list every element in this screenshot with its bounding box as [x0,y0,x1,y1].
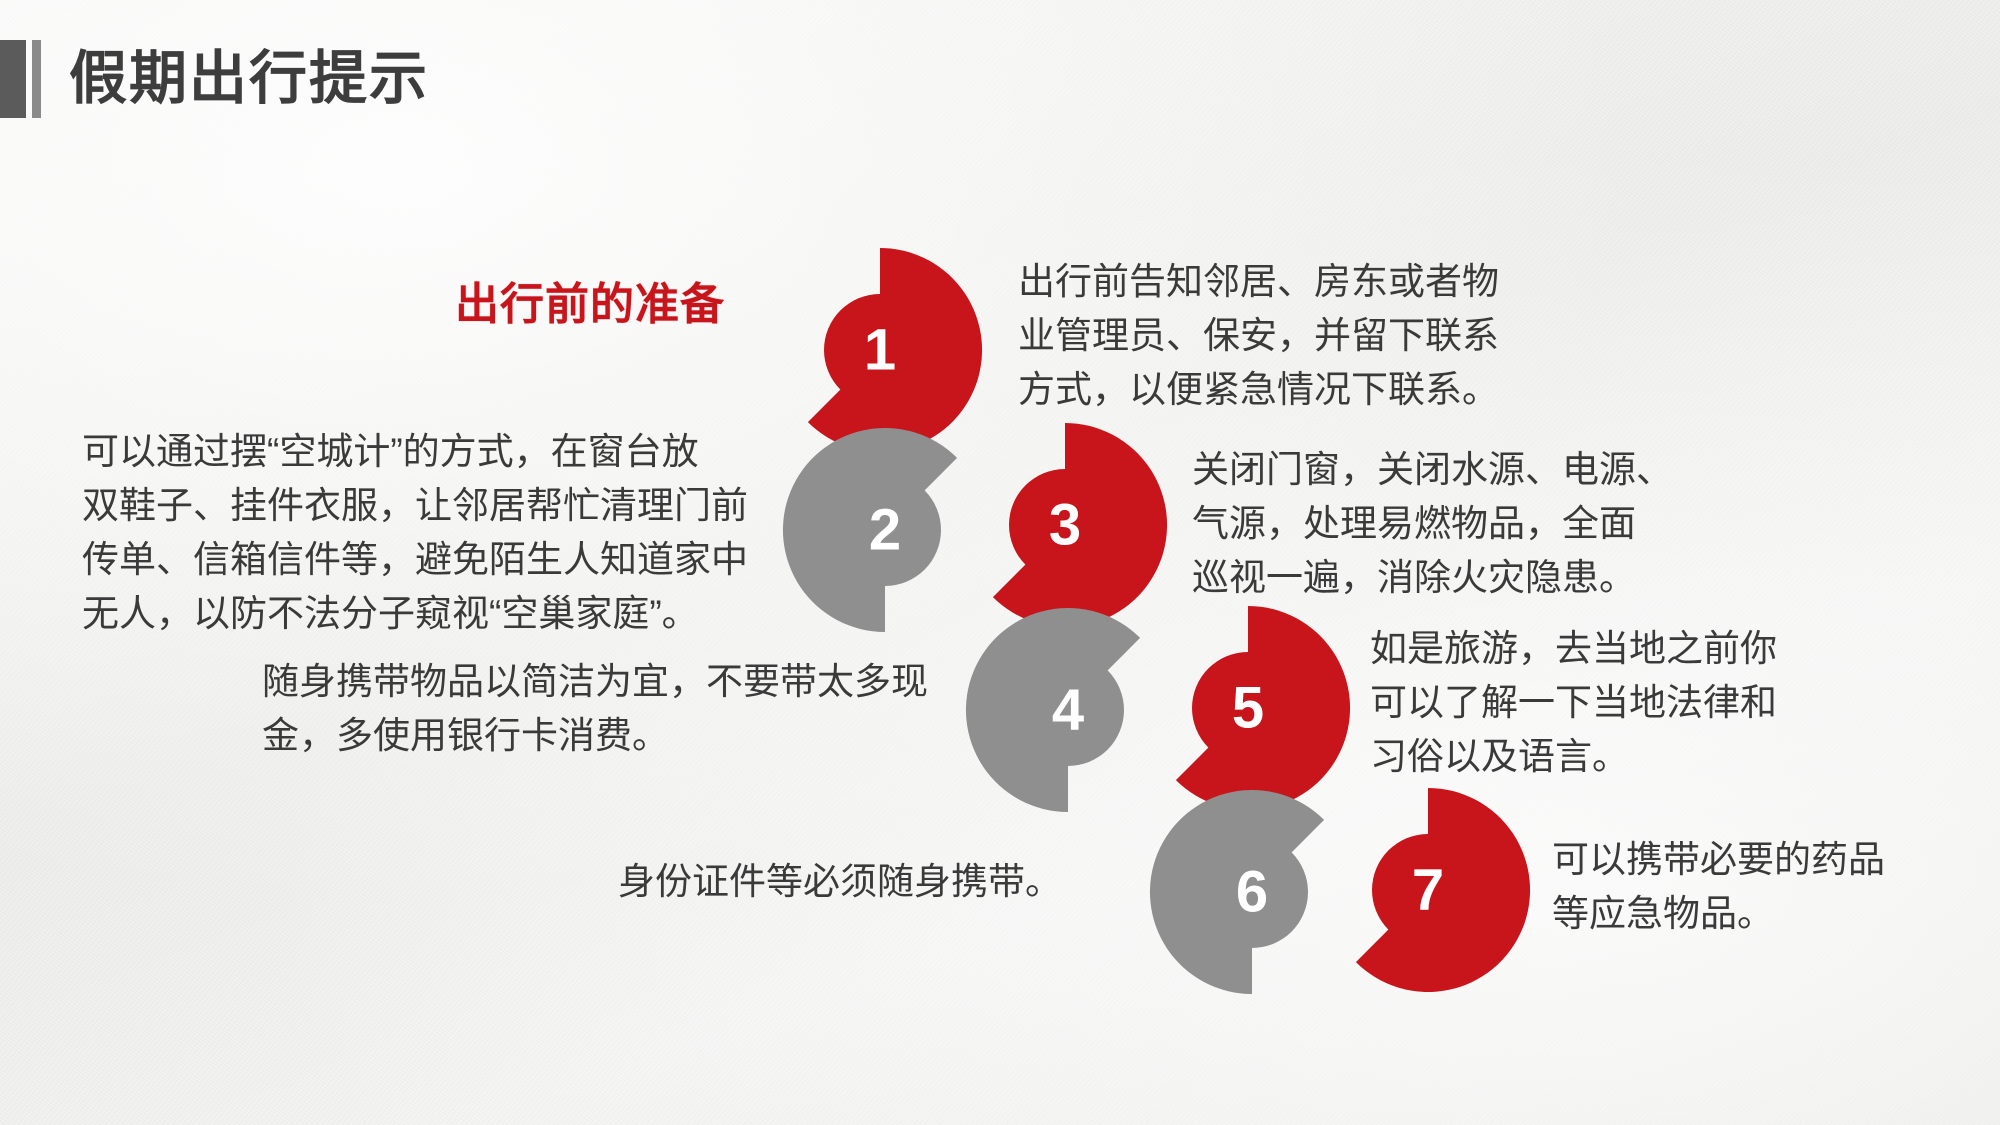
chain-node-2-number: 2 [869,498,901,563]
chain-node-3-disc [1009,469,1121,581]
chain-node-3-number: 3 [1049,493,1081,558]
chain-node-6-ring [1150,790,1324,994]
chain-node-3: 3 [993,423,1167,627]
chain-node-2-ring [783,428,957,632]
chain-node-7: 7 [1356,788,1530,992]
chain-node-6-number: 6 [1236,860,1268,925]
chain-node-7-disc [1372,834,1484,946]
step-text-1: 出行前告知邻居、房东或者物 业管理员、保安，并留下联系 方式，以便紧急情况下联系… [1018,255,1538,417]
chain-node-6-disc [1196,836,1308,948]
step-text-5: 如是旅游，去当地之前你 可以了解一下当地法律和 习俗以及语言。 [1370,622,1870,784]
chain-node-4-disc [1012,654,1124,766]
chain-node-5-disc [1192,652,1304,764]
section-heading: 出行前的准备 [455,268,725,332]
chain-node-1-disc [824,294,936,406]
step-text-2: 可以通过摆“空城计”的方式，在窗台放 双鞋子、挂件衣服，让邻居帮忙清理门前 传单… [82,425,772,641]
chain-node-4: 4 [966,608,1140,812]
chain-node-7-number: 7 [1412,858,1444,923]
slide-canvas: 假期出行提示 出行前的准备 1 2 3 [0,0,2000,1125]
chain-node-5-number: 5 [1232,676,1264,741]
title-marker-thin-bar [32,40,41,118]
chain-node-2-disc [829,474,941,586]
chain-node-1: 1 [808,248,982,452]
chain-node-4-number: 4 [1052,678,1084,743]
step-text-3: 关闭门窗，关闭水源、电源、 气源，处理易燃物品，全面 巡视一遍，消除火灾隐患。 [1192,443,1712,605]
chain-node-2: 2 [783,428,957,632]
title-marker-thick-bar [0,40,26,118]
slide-header: 假期出行提示 [0,40,429,118]
chain-node-6: 6 [1150,790,1324,994]
chain-node-7-ring [1356,788,1530,992]
chain-node-5-ring [1176,606,1350,810]
step-text-7: 可以携带必要的药品 等应急物品。 [1552,833,1972,941]
chain-node-3-ring [993,423,1167,627]
chain-node-1-number: 1 [864,318,896,383]
chain-node-4-ring [966,608,1140,812]
chain-node-1-ring [808,248,982,452]
page-title: 假期出行提示 [69,50,429,108]
step-text-4: 随身携带物品以简洁为宜，不要带太多现 金，多使用银行卡消费。 [262,655,952,763]
step-text-6: 身份证件等必须随身携带。 [618,855,1138,909]
chain-node-5: 5 [1176,606,1350,810]
